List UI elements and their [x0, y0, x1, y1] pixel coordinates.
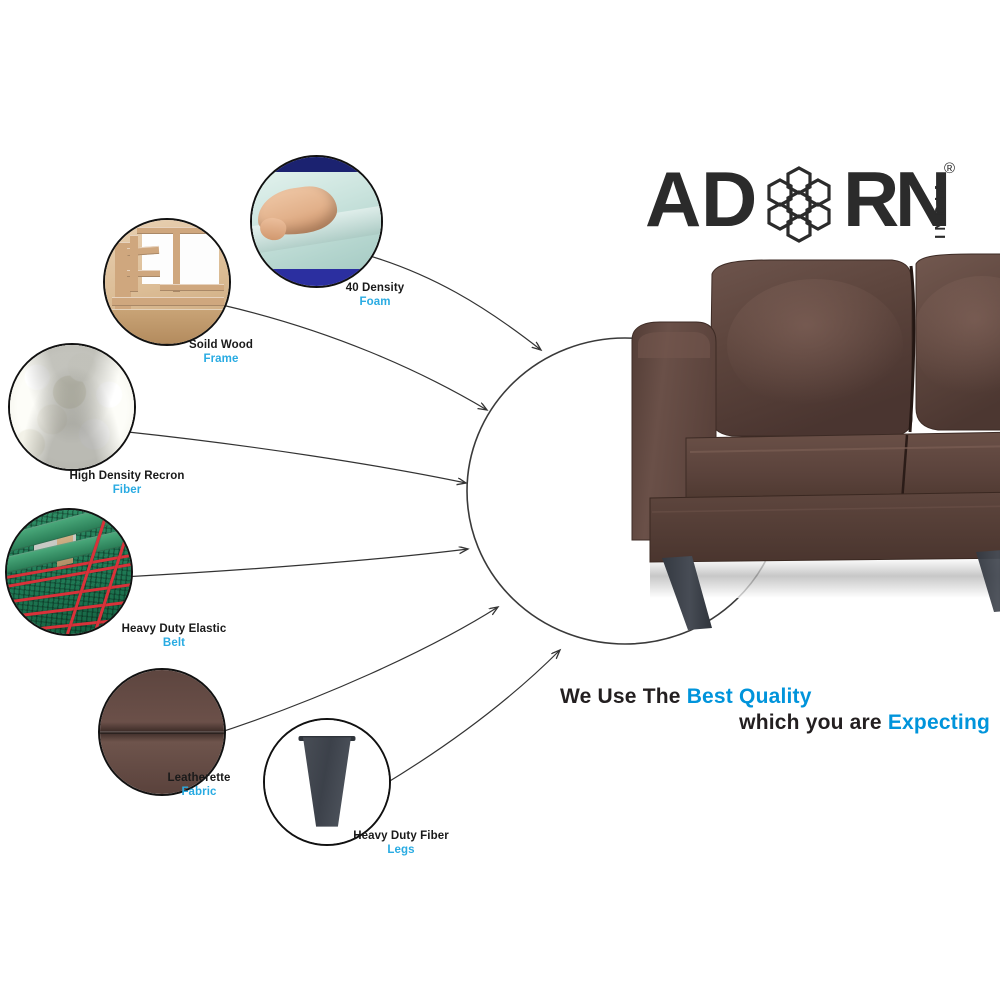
- sofa-cushion-sheen-left: [727, 279, 903, 411]
- infographic-canvas: 40 Density Foam Soild Wood Frame High De…: [0, 0, 1000, 1000]
- feature-label-belt: Heavy Duty Elastic Belt: [100, 623, 248, 650]
- registered-mark-icon: ®: [944, 160, 955, 177]
- connector-legs: [380, 650, 560, 787]
- feature-label-fiber: High Density Recron Fiber: [52, 470, 202, 497]
- feature-subtitle-foam: Foam: [305, 296, 445, 310]
- feature-subtitle-frame: Frame: [155, 353, 287, 367]
- sofa-base: [650, 492, 1000, 562]
- tagline-line2-accent: Expecting: [888, 711, 990, 734]
- connector-fabric: [212, 607, 498, 735]
- logo-letter-d: D: [701, 160, 755, 238]
- feature-title-foam: 40 Density: [305, 282, 445, 296]
- logo-letter-r: R: [843, 160, 897, 238]
- feature-title-frame: Soild Wood: [155, 339, 287, 353]
- feature-subtitle-fiber: Fiber: [52, 484, 202, 498]
- feature-title-belt: Heavy Duty Elastic: [100, 623, 248, 637]
- brand-logo: A D R N INDIA ®: [645, 160, 965, 240]
- feature-subtitle-fabric: Fabric: [146, 786, 252, 800]
- tagline-line-1: We Use The Best Quality: [560, 684, 990, 710]
- tagline-line-2: which you are Expecting: [560, 710, 990, 736]
- feature-subtitle-belt: Belt: [100, 637, 248, 651]
- tagline-line2-plain: which you are: [739, 711, 888, 734]
- tagline-block: We Use The Best Quality which you are Ex…: [560, 684, 990, 735]
- feature-label-fabric: Leatherette Fabric: [146, 772, 252, 799]
- feature-title-fiber: High Density Recron: [52, 470, 202, 484]
- hexagon-cluster-icon: [753, 164, 845, 244]
- feature-circle-frame: [103, 218, 231, 346]
- sofa-arm-highlight: [638, 332, 710, 358]
- feature-circle-foam: [250, 155, 383, 288]
- feature-circle-legs: [263, 718, 391, 846]
- sofa-floor-shadow: [650, 558, 1000, 598]
- feature-circle-belt: [5, 508, 133, 636]
- feature-title-fabric: Leatherette: [146, 772, 252, 786]
- tagline-line1-accent: Best Quality: [687, 685, 812, 708]
- feature-circle-fiber: [8, 343, 136, 471]
- feature-label-foam: 40 Density Foam: [305, 282, 445, 309]
- product-sofa-image: [620, 240, 1000, 640]
- logo-india-text: INDIA: [932, 178, 949, 239]
- connector-belt: [122, 549, 468, 577]
- feature-subtitle-legs: Legs: [340, 844, 462, 858]
- feature-label-frame: Soild Wood Frame: [155, 339, 287, 366]
- tagline-line1-plain: We Use The: [560, 685, 687, 708]
- feature-title-legs: Heavy Duty Fiber: [340, 830, 462, 844]
- logo-letter-a: A: [645, 160, 699, 238]
- feature-label-legs: Heavy Duty Fiber Legs: [340, 830, 462, 857]
